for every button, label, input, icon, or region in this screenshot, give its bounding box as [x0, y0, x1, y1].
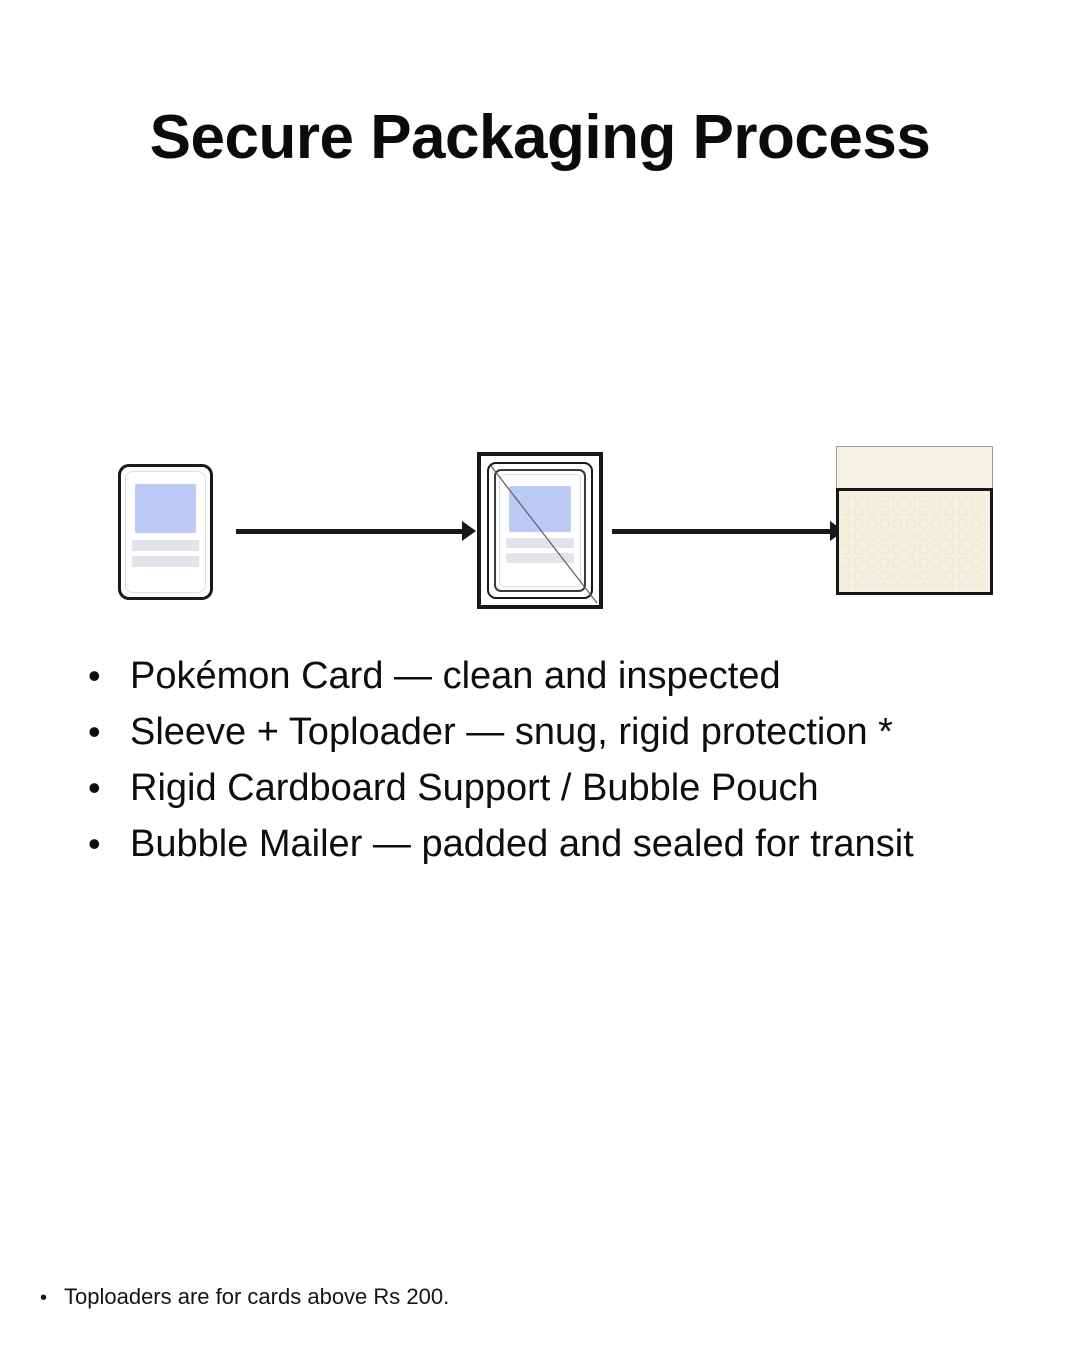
- flow-arrow-1-shaft: [236, 529, 466, 534]
- card-artwork-panel: [509, 486, 571, 532]
- slide-canvas: Secure Packaging Process: [0, 0, 1080, 1350]
- footnote-text: Toploaders are for cards above Rs 200.: [64, 1281, 449, 1313]
- flow-arrow-2-shaft: [612, 529, 834, 534]
- list-item: • Pokémon Card — clean and inspected: [88, 648, 1048, 704]
- card-artwork-panel: [135, 484, 197, 533]
- bullet-marker: •: [88, 816, 130, 872]
- packaging-steps-list: • Pokémon Card — clean and inspected • S…: [88, 648, 1048, 872]
- bullet-marker: •: [88, 704, 130, 760]
- card-inner-frame: [125, 471, 206, 593]
- list-item-label: Rigid Cardboard Support / Bubble Pouch: [130, 760, 1048, 816]
- card-inside-sleeve: [494, 469, 586, 592]
- bullet-marker: •: [88, 648, 130, 704]
- flow-arrow-1-head: [462, 521, 476, 541]
- mailer-body: [836, 488, 993, 595]
- list-item: • Sleeve + Toploader — snug, rigid prote…: [88, 704, 1048, 760]
- card-text-bar-1: [506, 538, 573, 548]
- footnote: • Toploaders are for cards above Rs 200.: [40, 1281, 449, 1314]
- list-item-label: Sleeve + Toploader — snug, rigid protect…: [130, 704, 1048, 760]
- stage-pokemon-card: [118, 464, 213, 600]
- list-item-label: Bubble Mailer — padded and sealed for tr…: [130, 816, 1048, 872]
- stage-sleeve-toploader: [477, 452, 603, 609]
- bullet-marker: •: [88, 760, 130, 816]
- card-text-bar-2: [506, 553, 573, 563]
- page-title: Secure Packaging Process: [0, 104, 1080, 172]
- list-item: • Rigid Cardboard Support / Bubble Pouch: [88, 760, 1048, 816]
- card-text-bar-1: [132, 540, 198, 551]
- card-text-bar-2: [132, 556, 198, 567]
- footnote-bullet-marker: •: [40, 1282, 64, 1314]
- list-item: • Bubble Mailer — padded and sealed for …: [88, 816, 1048, 872]
- card-inner-frame: [499, 474, 581, 587]
- list-item-label: Pokémon Card — clean and inspected: [130, 648, 1048, 704]
- stage-bubble-mailer: [836, 446, 993, 595]
- mailer-flap: [836, 446, 993, 488]
- bubble-texture: [839, 491, 990, 592]
- sleeve-outline: [487, 462, 593, 599]
